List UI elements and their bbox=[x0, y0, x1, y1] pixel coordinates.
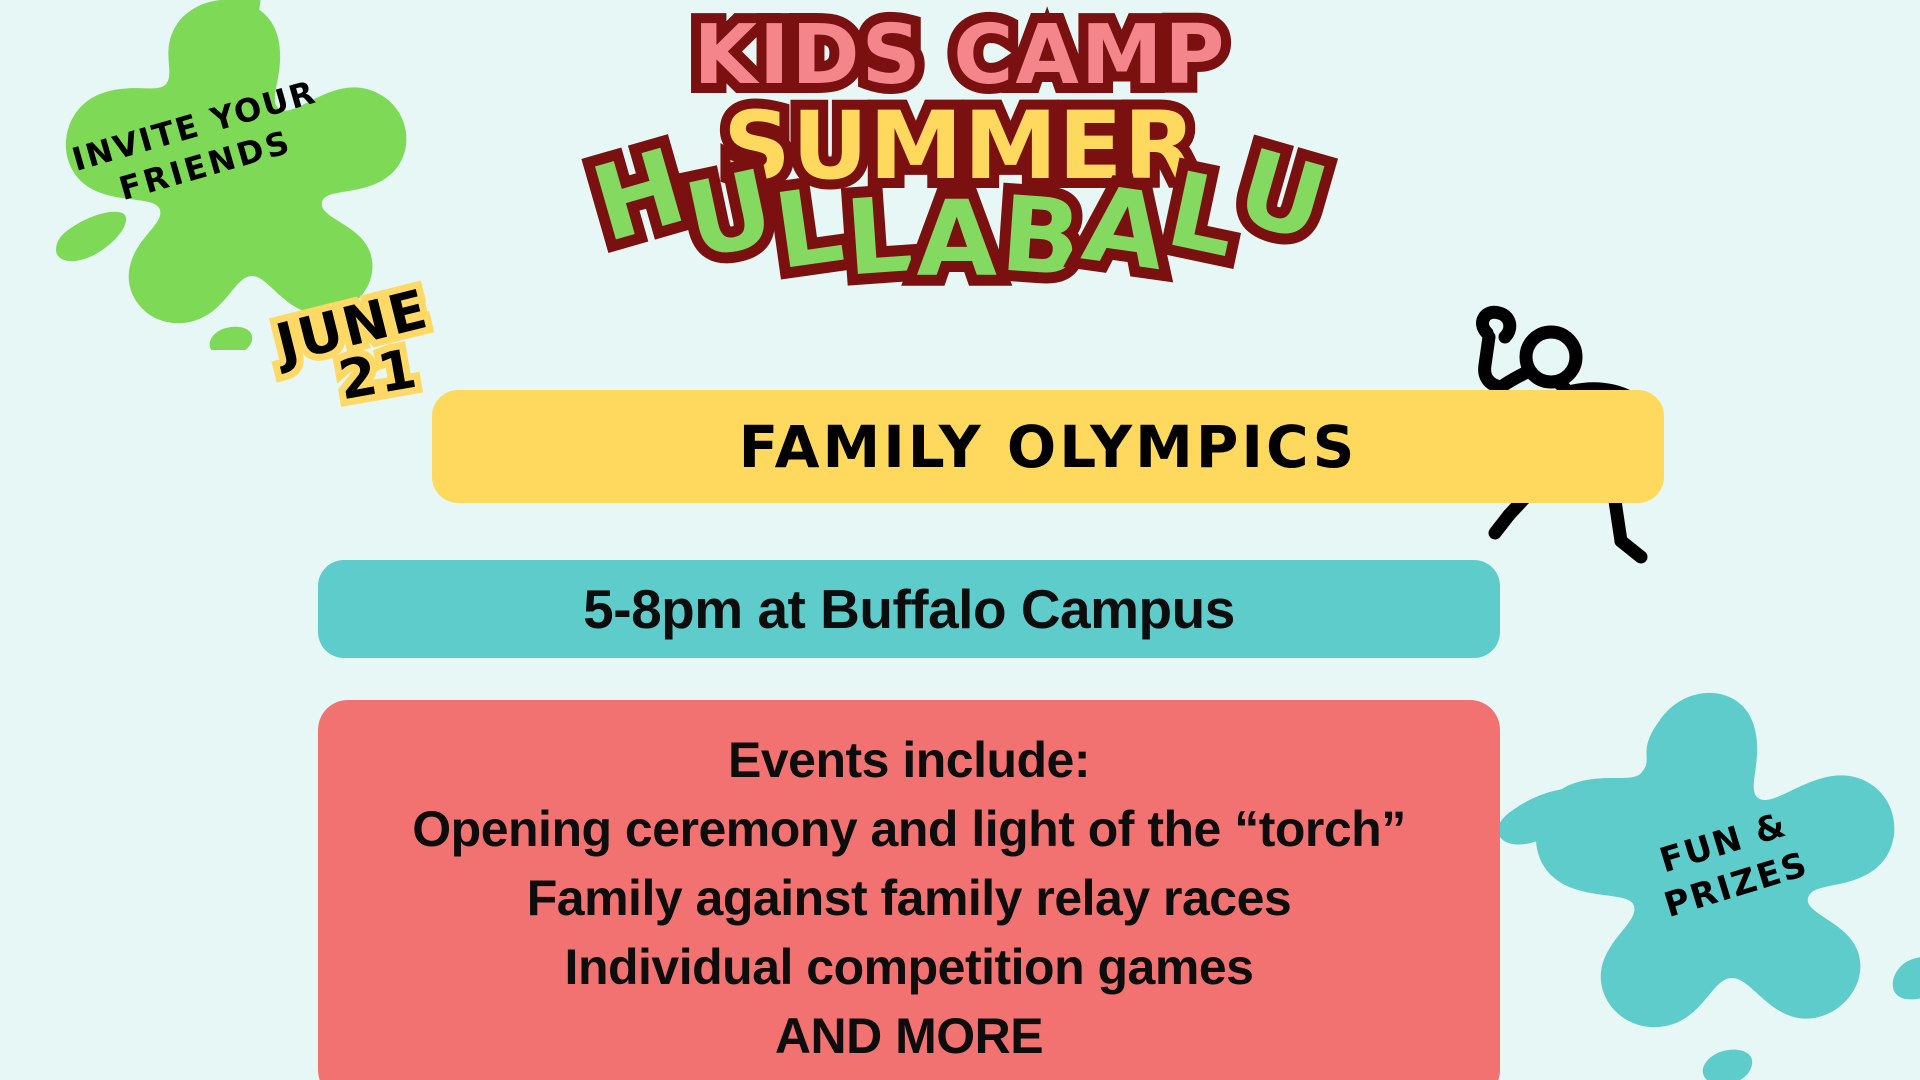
poster-title: KIDS CAMP SUMMER HULLABALU bbox=[560, 0, 1360, 400]
time-location-text: 5-8pm at Buffalo Campus bbox=[583, 577, 1235, 641]
date-badge: JUNE 21 bbox=[271, 283, 446, 423]
fun-prizes-label: FUN & PRIZES bbox=[1593, 784, 1867, 945]
events-item: Individual competition games bbox=[318, 933, 1500, 1002]
events-box: Events include: Opening ceremony and lig… bbox=[318, 700, 1500, 1080]
poster-canvas: INVITE YOUR FRIENDS FUN & PRIZES JUNE 21… bbox=[0, 0, 1920, 1080]
title-line-kids-camp: KIDS CAMP bbox=[560, 8, 1360, 103]
invite-friends-label: INVITE YOUR FRIENDS bbox=[49, 67, 350, 226]
date-day: 21 bbox=[335, 342, 422, 408]
subtitle-text: FAMILY OLYMPICS bbox=[739, 413, 1358, 481]
time-location-bar: 5-8pm at Buffalo Campus bbox=[318, 560, 1500, 658]
title-line-hullabalu: HULLABALU bbox=[560, 178, 1360, 300]
events-item: AND MORE bbox=[318, 1002, 1500, 1071]
subtitle-bar: FAMILY OLYMPICS bbox=[432, 390, 1664, 503]
events-heading: Events include: bbox=[318, 726, 1500, 795]
events-item: Opening ceremony and light of the “torch… bbox=[318, 795, 1500, 864]
events-item: Family against family relay races bbox=[318, 864, 1500, 933]
